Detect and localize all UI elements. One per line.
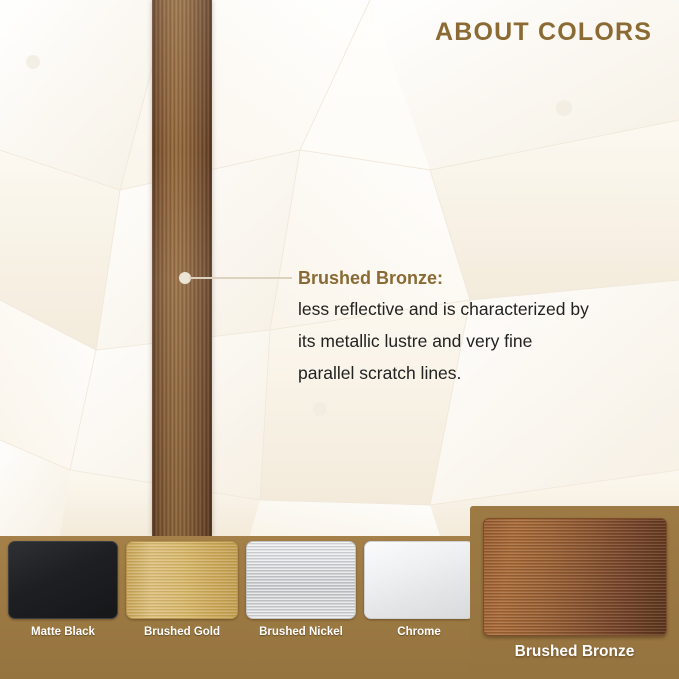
brushed-bronze-column	[152, 0, 212, 536]
swatch-label-brushed-gold: Brushed Gold	[126, 626, 238, 638]
background-dot	[313, 402, 327, 416]
callout-body-line-2: its metallic lustre and very fine	[298, 325, 648, 357]
swatch-label-matte-black: Matte Black	[8, 626, 118, 638]
page-title: ABOUT COLORS	[435, 18, 652, 47]
swatch-brushed-nickel[interactable]	[246, 541, 356, 619]
callout-body-line-1: less reflective and is characterized by	[298, 293, 648, 325]
background-dot	[556, 100, 572, 116]
swatch-brushed-gold[interactable]	[126, 541, 238, 619]
column-sheen-overlay	[152, 0, 212, 536]
swatch-chrome[interactable]	[364, 541, 474, 619]
callout-leader-line	[189, 277, 292, 279]
callout-heading: Brushed Bronze:	[298, 263, 648, 293]
callout-text-block: Brushed Bronze: less reflective and is c…	[298, 263, 648, 389]
swatch-brushed-bronze[interactable]	[483, 518, 667, 636]
background-dot	[26, 55, 40, 69]
swatch-label-brushed-bronze: Brushed Bronze	[470, 643, 679, 661]
swatch-matte-black[interactable]	[8, 541, 118, 619]
callout-body-line-3: parallel scratch lines.	[298, 357, 648, 389]
featured-swatch-card[interactable]: Brushed Bronze	[470, 506, 679, 679]
swatch-label-brushed-nickel: Brushed Nickel	[246, 626, 356, 638]
swatch-label-chrome: Chrome	[364, 626, 474, 638]
about-colors-infographic: ABOUT COLORS Brushed Bronze: less reflec…	[0, 0, 679, 679]
